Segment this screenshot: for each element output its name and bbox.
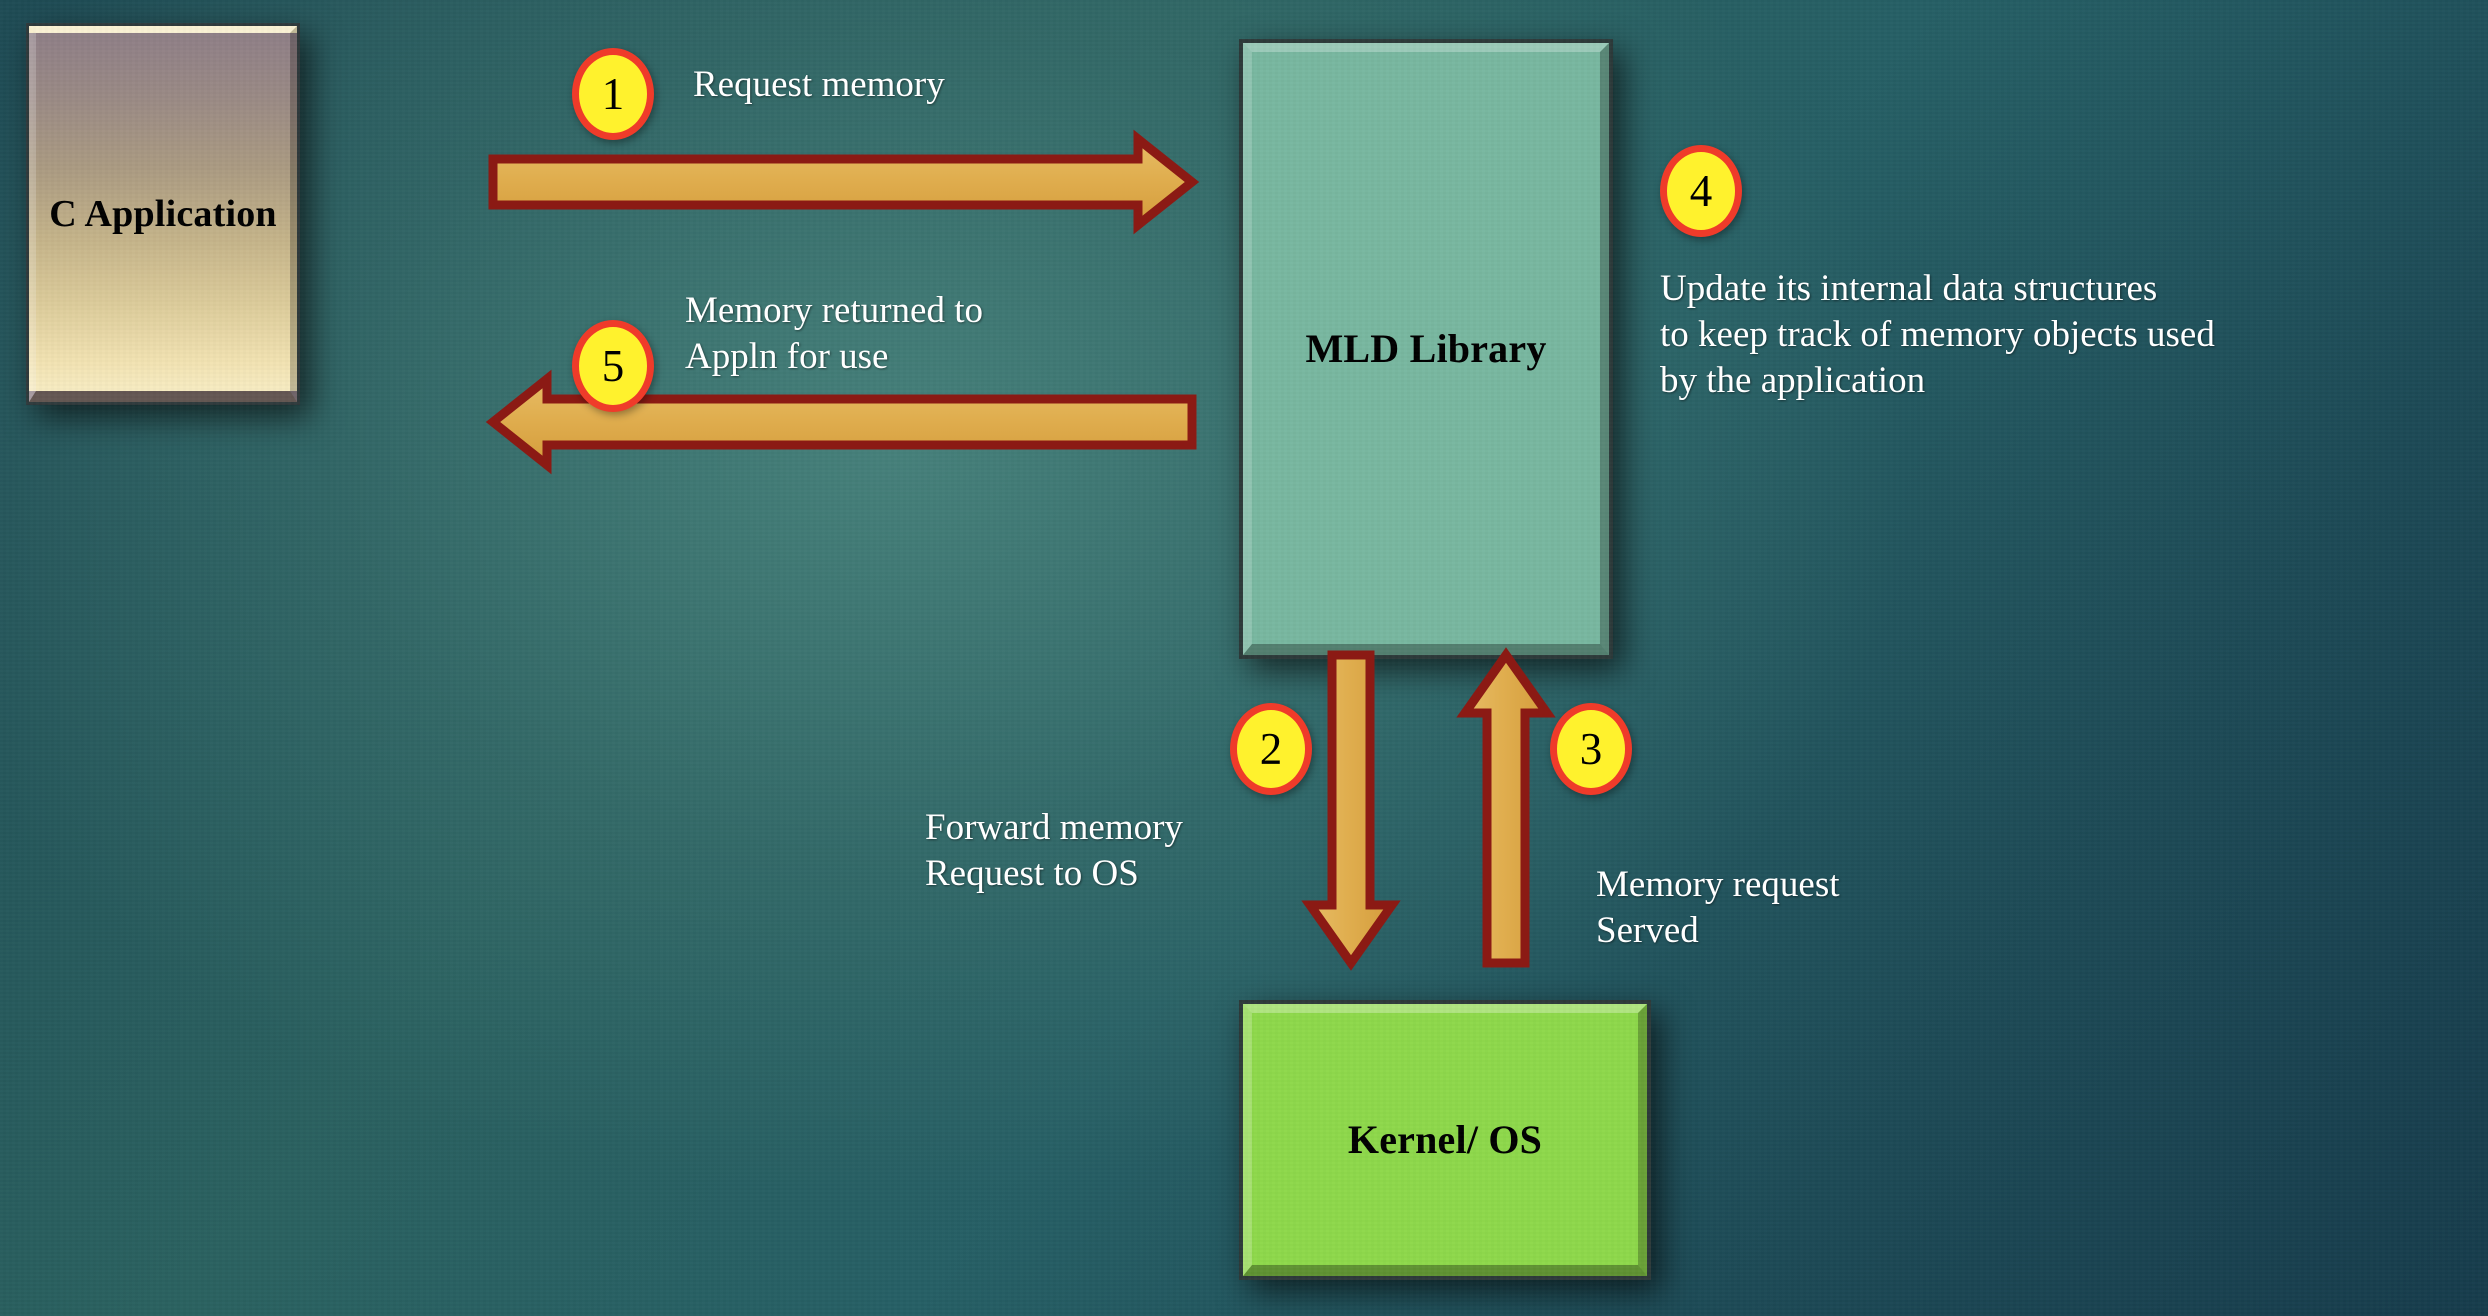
step-badge-3[interactable]: 3 bbox=[1550, 703, 1632, 795]
annotation-memory-returned: Memory returned to Appln for use bbox=[685, 288, 983, 380]
arrow-layer bbox=[0, 0, 2488, 1316]
arrow-served bbox=[1465, 655, 1547, 963]
annotation-forward-to-os: Forward memory Request to OS bbox=[925, 805, 1183, 897]
arrow-forward-to-os bbox=[1310, 655, 1392, 963]
annotation-update-structures: Update its internal data structures to k… bbox=[1660, 266, 2215, 404]
step-badge-2[interactable]: 2 bbox=[1230, 703, 1312, 795]
step-badge-1[interactable]: 1 bbox=[572, 48, 654, 140]
step-badge-5[interactable]: 5 bbox=[572, 320, 654, 412]
diagram-canvas: C Application MLD Library Kernel/ OS 1 2… bbox=[0, 0, 2488, 1316]
annotation-request-memory: Request memory bbox=[693, 62, 945, 108]
step-badge-4[interactable]: 4 bbox=[1660, 145, 1742, 237]
arrow-request-memory bbox=[493, 139, 1192, 225]
annotation-memory-served: Memory request Served bbox=[1596, 862, 1840, 954]
